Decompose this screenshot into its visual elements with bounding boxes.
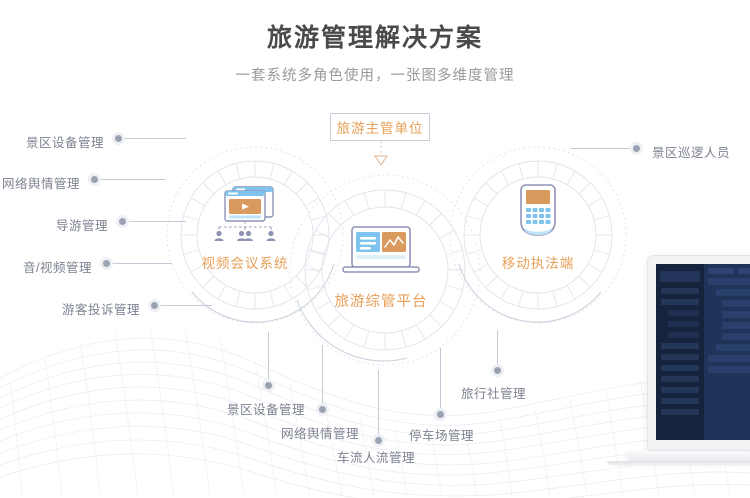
dashboard-sidebar-item[interactable] [661, 376, 699, 382]
leader-line-bottom-5 [497, 330, 498, 366]
laptop-screen [647, 255, 750, 451]
dashboard-sidebar-item[interactable] [661, 299, 699, 305]
leader-line-bottom-1 [268, 332, 269, 380]
dashboard-tree-row[interactable] [716, 344, 750, 351]
leader-line-left-3 [128, 221, 186, 222]
dashboard-tree-row[interactable] [716, 289, 750, 296]
bottom-label-2: 网络舆情管理 [281, 423, 359, 442]
bottom-label-4: 停车场管理 [409, 425, 474, 444]
leader-dot-bottom-2[interactable] [316, 403, 329, 416]
leader-line-bottom-3 [378, 370, 379, 436]
dashboard-sidebar-item[interactable] [661, 387, 699, 393]
leader-dot-left-1[interactable] [112, 132, 125, 145]
handheld-device-icon [483, 182, 593, 244]
right-label-1: 景区巡逻人员 [652, 142, 730, 161]
authority-label: 旅游主管单位 [337, 117, 424, 137]
dashboard-body [708, 278, 750, 377]
left-label-4: 音/视频管理 [0, 257, 92, 276]
left-label-1: 景区设备管理 [0, 132, 104, 151]
leader-line-bottom-2 [322, 345, 323, 405]
leader-dot-right-1[interactable] [630, 142, 643, 155]
bottom-label-1: 景区设备管理 [227, 399, 305, 418]
leader-line-right-1 [570, 148, 630, 149]
laptop-base [627, 451, 750, 461]
page-title: 旅游管理解决方案 [0, 22, 750, 54]
video-conference-icon [190, 182, 300, 244]
left-label-5: 游客投诉管理 [38, 299, 140, 318]
authority-connector [370, 141, 392, 167]
dashboard-toolbar-item[interactable] [708, 268, 734, 274]
node-caption-platform: 旅游综管平台 [325, 290, 437, 311]
dashboard-sidebar-item[interactable] [661, 343, 699, 349]
left-label-3: 导游管理 [6, 215, 108, 234]
leader-dot-bottom-5[interactable] [491, 364, 504, 377]
dashboard-sidebar-item[interactable] [661, 354, 699, 360]
dashboard-tree-row[interactable] [722, 322, 750, 329]
dashboard-tree-row[interactable] [708, 366, 750, 373]
dashboard-sidebar-item[interactable] [668, 310, 699, 316]
dashboard-toolbar-item[interactable] [738, 268, 750, 274]
dashboard-tree-row[interactable] [708, 355, 750, 362]
dashboard-sidebar-item[interactable] [661, 409, 699, 415]
page-subtitle: 一套系统多角色使用，一张图多维度管理 [0, 66, 750, 86]
node-caption-mobile-enforcement: 移动执法端 [483, 252, 593, 272]
node-mobile-enforcement[interactable]: 移动执法端 [483, 182, 593, 272]
dashboard-tree-row[interactable] [722, 311, 750, 318]
dashboard-sidebar-item[interactable] [668, 321, 699, 327]
leader-dot-left-3[interactable] [116, 215, 129, 228]
dashboard-sidebar-item[interactable] [661, 398, 699, 404]
tourism-platform-dashboard-preview[interactable] [637, 255, 750, 498]
dashboard-tree-row[interactable] [722, 333, 750, 340]
dashboard-screenshot [656, 264, 750, 440]
dashboard-tree-row[interactable] [708, 278, 750, 285]
leader-dot-bottom-4[interactable] [434, 408, 447, 421]
dashboard-sidebar-item[interactable] [661, 365, 699, 371]
laptop-foot [607, 461, 750, 466]
leader-dot-left-2[interactable] [88, 173, 101, 186]
node-platform[interactable]: 旅游综管平台 [325, 224, 437, 311]
dashboard-sidebar-item[interactable] [661, 288, 699, 294]
dashboard-sidebar[interactable] [656, 264, 704, 440]
bottom-label-5: 旅行社管理 [461, 383, 526, 402]
leader-line-left-2 [100, 179, 166, 180]
dashboard-logo [660, 271, 700, 282]
dashboard-toolbar[interactable] [708, 268, 750, 274]
leader-dot-left-4[interactable] [100, 257, 113, 270]
bottom-label-3: 车流人流管理 [337, 447, 415, 466]
dashboard-tree-row[interactable] [722, 300, 750, 307]
leader-dot-left-5[interactable] [148, 299, 161, 312]
laptop-dashboard-icon [325, 224, 437, 282]
leader-line-left-4 [112, 263, 172, 264]
infographic-canvas: 旅游管理解决方案 一套系统多角色使用，一张图多维度管理 [0, 0, 750, 498]
node-caption-video-conference: 视频会议系统 [190, 252, 300, 272]
leader-line-left-1 [124, 138, 186, 139]
dashboard-sidebar-item[interactable] [668, 332, 699, 338]
left-label-2: 网络舆情管理 [0, 173, 80, 192]
leader-dot-bottom-1[interactable] [262, 379, 275, 392]
leader-dot-bottom-3[interactable] [372, 434, 385, 447]
authority-box[interactable]: 旅游主管单位 [330, 113, 430, 141]
node-video-conference[interactable]: 视频会议系统 [190, 182, 300, 272]
dashboard-tree-panel[interactable] [708, 278, 750, 377]
leader-line-left-5 [160, 305, 212, 306]
leader-line-bottom-4 [440, 348, 441, 410]
dashboard-main-panel [704, 264, 750, 440]
header-block: 旅游管理解决方案 一套系统多角色使用，一张图多维度管理 [0, 22, 750, 86]
